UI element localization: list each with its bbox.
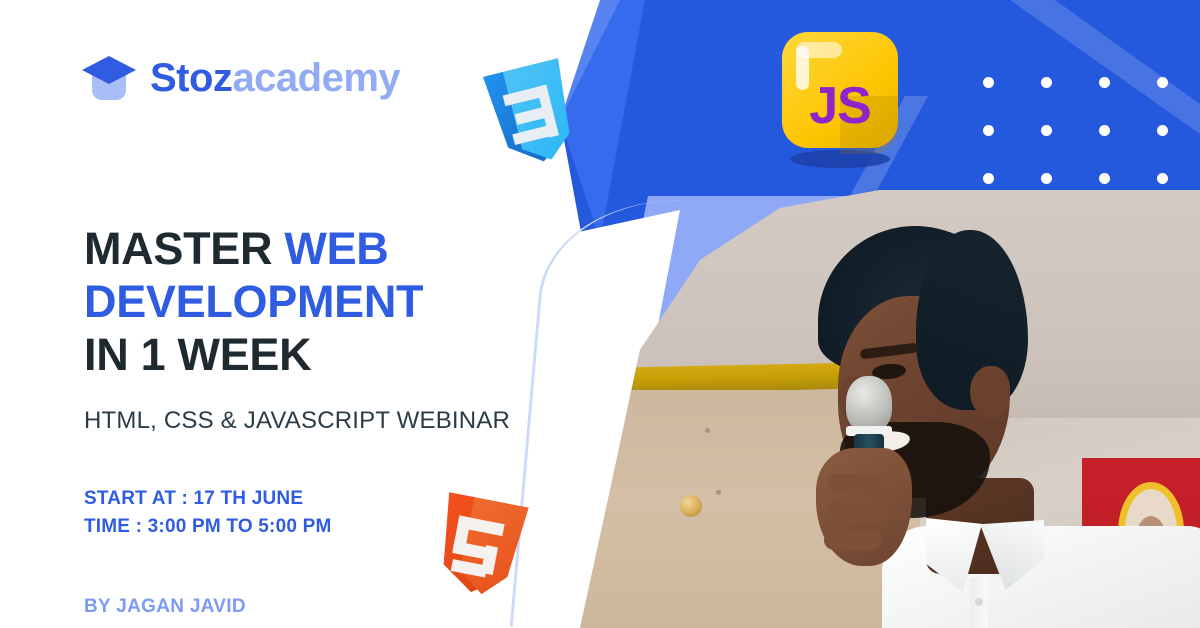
photo-door-knob (680, 495, 702, 517)
headline-line2: IN 1 WEEK (84, 329, 311, 380)
grid-dot (1157, 173, 1168, 184)
brand-name-primary: Stoz (150, 56, 232, 100)
grid-dot (1099, 173, 1110, 184)
grid-dot (1157, 125, 1168, 136)
subtitle: HTML, CSS & JAVASCRIPT WEBINAR (84, 407, 664, 435)
speaker-ear (970, 366, 1010, 418)
grid-dot (983, 173, 994, 184)
grid-dot (1041, 125, 1052, 136)
grid-dot (983, 125, 994, 136)
javascript-icon: JS (782, 32, 898, 154)
brand-name: Stozacademy (150, 58, 400, 98)
finger (828, 474, 886, 494)
grid-dot (1041, 77, 1052, 88)
brand-name-secondary: academy (232, 56, 400, 100)
schedule-time: TIME : 3:00 PM TO 5:00 PM (84, 513, 664, 541)
grid-dot (983, 77, 994, 88)
grid-dot (1099, 77, 1110, 88)
graduation-cap-icon (80, 52, 138, 104)
brand-logo: Stozacademy (80, 52, 400, 104)
javascript-label: JS (782, 32, 898, 148)
schedule-block: START AT : 17 TH JUNE TIME : 3:00 PM TO … (84, 485, 664, 540)
speaker-figure (798, 226, 1200, 628)
copy-block: MASTER WEB DEVELOPMENTIN 1 WEEK HTML, CS… (84, 222, 664, 618)
headline-plain: MASTER (84, 223, 284, 274)
grid-dot (1157, 77, 1168, 88)
grid-dot (1099, 125, 1110, 136)
photo-wall-screw (716, 490, 721, 495)
grid-dot (1041, 173, 1052, 184)
finger (826, 502, 888, 522)
finger (824, 530, 882, 550)
microphone-head (846, 376, 892, 432)
photo-wall-screw (705, 428, 710, 433)
schedule-start-date: START AT : 17 TH JUNE (84, 485, 664, 513)
dot-grid-decoration (983, 77, 1200, 221)
page-title: MASTER WEB DEVELOPMENTIN 1 WEEK (84, 222, 664, 381)
shirt-button (975, 598, 983, 606)
webinar-banner: JS Stozacademy MASTER WEB DEVELOPMENTIN … (0, 0, 1200, 628)
cap-mortarboard (82, 56, 136, 84)
presenter-byline: BY JAGAN JAVID (84, 596, 664, 618)
